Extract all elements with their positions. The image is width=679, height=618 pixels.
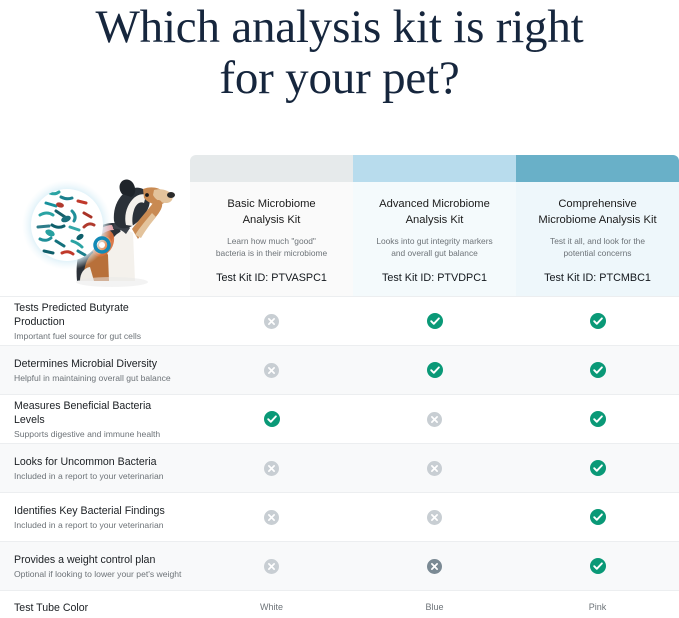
row-subtitle: Helpful in maintaining overall gut balan…: [14, 372, 182, 384]
row-label-cell: Looks for Uncommon BacteriaIncluded in a…: [0, 455, 190, 482]
row-label-cell: Tests Predicted Butyrate ProductionImpor…: [0, 301, 190, 342]
kit-card-comprehensive[interactable]: Comprehensive Microbiome Analysis Kit Te…: [516, 155, 679, 296]
cell-advanced: [353, 460, 516, 476]
cell-comprehensive: [516, 460, 679, 476]
cell-basic: [190, 313, 353, 329]
table-row: Tests Predicted Butyrate ProductionImpor…: [0, 296, 679, 345]
x-circle-icon: [427, 510, 442, 525]
tube-color-advanced: Blue: [425, 601, 443, 613]
cell-advanced: [353, 411, 516, 427]
row-label-cell: Determines Microbial DiversityHelpful in…: [0, 357, 190, 384]
row-title: Measures Beneficial Bacteria Levels: [14, 399, 182, 427]
cell-basic: [190, 558, 353, 574]
row-title: Identifies Key Bacterial Findings: [14, 504, 182, 518]
kit-id-basic: Test Kit ID: PTVASPC1: [200, 271, 343, 287]
kit-id-comprehensive: Test Kit ID: PTCMBC1: [526, 271, 669, 287]
tube-color-comprehensive: Pink: [589, 601, 607, 613]
table-row: Determines Microbial DiversityHelpful in…: [0, 345, 679, 394]
row-subtitle: Supports digestive and immune health: [14, 428, 182, 440]
dog-with-microbiome-illustration: [14, 163, 184, 289]
cell-comprehensive: [516, 558, 679, 574]
row-value-cells: [190, 460, 679, 476]
kit-card-basic[interactable]: Basic Microbiome Analysis Kit Learn how …: [190, 155, 353, 296]
page-title-wrap: Which analysis kit is right for your pet…: [0, 0, 679, 104]
kit-desc-advanced: Looks into gut integrity markers and ove…: [363, 236, 506, 259]
row-label-cell: Provides a weight control planOptional i…: [0, 553, 190, 580]
cell-advanced: [353, 362, 516, 378]
table-row: Provides a weight control planOptional i…: [0, 541, 679, 590]
cell-comprehensive: [516, 313, 679, 329]
bacteria-magnifier: [22, 180, 112, 270]
row-label-cell: Identifies Key Bacterial FindingsInclude…: [0, 504, 190, 531]
cell-advanced: [353, 313, 516, 329]
kit-tab-comprehensive: [516, 155, 679, 182]
table-row-test-tube-color: Test Tube Color White Blue Pink: [0, 590, 679, 618]
kit-tab-basic: [190, 155, 353, 182]
x-circle-icon: [264, 461, 279, 476]
cell-basic: White: [190, 601, 353, 613]
check-circle-icon: [427, 313, 443, 329]
cell-comprehensive: [516, 362, 679, 378]
row-value-cells: [190, 558, 679, 574]
kit-tab-advanced: [353, 155, 516, 182]
row-subtitle: Included in a report to your veterinaria…: [14, 470, 182, 482]
table-row: Identifies Key Bacterial FindingsInclude…: [0, 492, 679, 541]
row-value-cells: [190, 509, 679, 525]
check-circle-icon: [264, 411, 280, 427]
feature-rows: Tests Predicted Butyrate ProductionImpor…: [0, 296, 679, 590]
page-title: Which analysis kit is right for your pet…: [0, 2, 679, 104]
x-circle-icon: [264, 510, 279, 525]
cell-advanced: Blue: [353, 601, 516, 613]
x-circle-icon: [264, 314, 279, 329]
check-circle-icon: [590, 509, 606, 525]
row-label-cell: Measures Beneficial Bacteria LevelsSuppo…: [0, 399, 190, 440]
kit-name-advanced: Advanced Microbiome Analysis Kit: [363, 196, 506, 228]
x-circle-icon: [264, 559, 279, 574]
row-title: Tests Predicted Butyrate Production: [14, 301, 182, 329]
cell-advanced: [353, 509, 516, 525]
kit-card-advanced[interactable]: Advanced Microbiome Analysis Kit Looks i…: [353, 155, 516, 296]
row-title: Test Tube Color: [14, 601, 182, 615]
cell-advanced: [353, 558, 516, 574]
x-circle-icon: [427, 412, 442, 427]
row-subtitle: Optional if looking to lower your pet's …: [14, 568, 182, 580]
check-circle-icon: [427, 362, 443, 378]
row-subtitle: Important fuel source for gut cells: [14, 330, 182, 342]
cell-comprehensive: [516, 411, 679, 427]
row-title: Determines Microbial Diversity: [14, 357, 182, 371]
row-value-cells: [190, 411, 679, 427]
check-circle-icon: [590, 362, 606, 378]
row-label-cell: Test Tube Color: [0, 601, 190, 615]
row-value-cells: [190, 313, 679, 329]
check-circle-icon: [590, 460, 606, 476]
cell-basic: [190, 362, 353, 378]
header-illustration-cell: [0, 155, 190, 296]
cell-basic: [190, 509, 353, 525]
row-title: Looks for Uncommon Bacteria: [14, 455, 182, 469]
cell-basic: [190, 460, 353, 476]
cell-comprehensive: [516, 509, 679, 525]
x-circle-icon: [427, 559, 442, 574]
kit-desc-comprehensive: Test it all, and look for the potential …: [526, 236, 669, 259]
check-circle-icon: [590, 558, 606, 574]
table-header-row: Basic Microbiome Analysis Kit Learn how …: [0, 155, 679, 296]
kit-name-basic: Basic Microbiome Analysis Kit: [200, 196, 343, 228]
row-value-cells: [190, 362, 679, 378]
row-title: Provides a weight control plan: [14, 553, 182, 567]
comparison-table: Basic Microbiome Analysis Kit Learn how …: [0, 155, 679, 618]
comparison-page: Which analysis kit is right for your pet…: [0, 0, 679, 618]
cell-basic: [190, 411, 353, 427]
kit-header-cards: Basic Microbiome Analysis Kit Learn how …: [190, 155, 679, 296]
x-circle-icon: [427, 461, 442, 476]
check-circle-icon: [590, 411, 606, 427]
table-row: Measures Beneficial Bacteria LevelsSuppo…: [0, 394, 679, 443]
check-circle-icon: [590, 313, 606, 329]
kit-name-comprehensive: Comprehensive Microbiome Analysis Kit: [526, 196, 669, 228]
table-row: Looks for Uncommon BacteriaIncluded in a…: [0, 443, 679, 492]
row-subtitle: Included in a report to your veterinaria…: [14, 519, 182, 531]
cell-comprehensive: Pink: [516, 601, 679, 613]
kit-id-advanced: Test Kit ID: PTVDPC1: [363, 271, 506, 287]
kit-desc-basic: Learn how much "good" bacteria is in the…: [200, 236, 343, 259]
tube-color-basic: White: [260, 601, 283, 613]
x-circle-icon: [264, 363, 279, 378]
row-value-cells: White Blue Pink: [190, 601, 679, 613]
